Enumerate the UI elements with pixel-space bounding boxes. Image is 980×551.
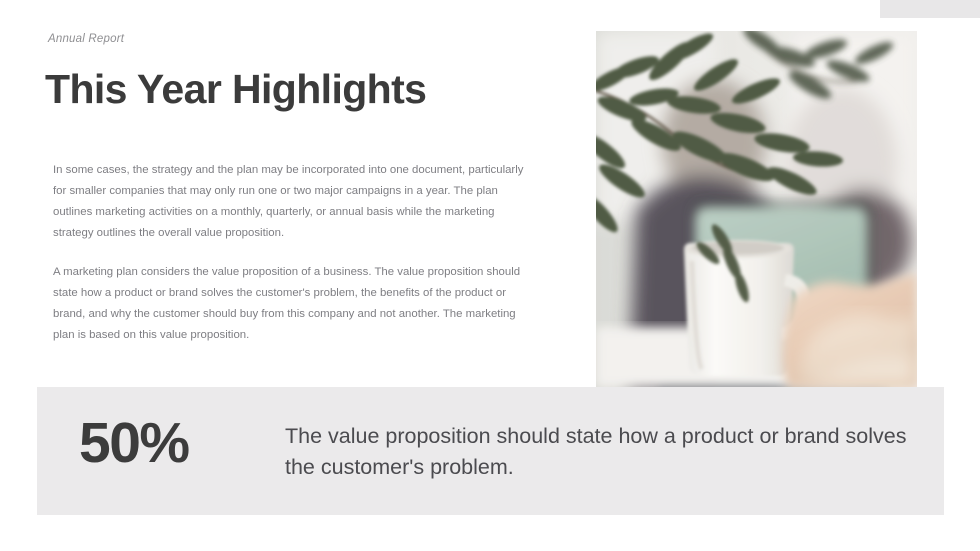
highlight-banner: 50% The value proposition should state h… <box>37 387 944 515</box>
page-title: This Year Highlights <box>45 67 426 112</box>
body-paragraph-2: A marketing plan considers the value pro… <box>53 262 527 345</box>
eyebrow-label: Annual Report <box>48 33 124 45</box>
corner-accent-tab <box>880 0 980 18</box>
office-desk-photo <box>596 31 917 387</box>
body-paragraph-1: In some cases, the strategy and the plan… <box>53 160 527 243</box>
slide-canvas: Annual Report This Year Highlights In so… <box>0 0 980 551</box>
stat-value: 50% <box>79 415 189 472</box>
body-text-column: In some cases, the strategy and the plan… <box>53 160 527 346</box>
stat-quote: The value proposition should state how a… <box>285 421 910 482</box>
